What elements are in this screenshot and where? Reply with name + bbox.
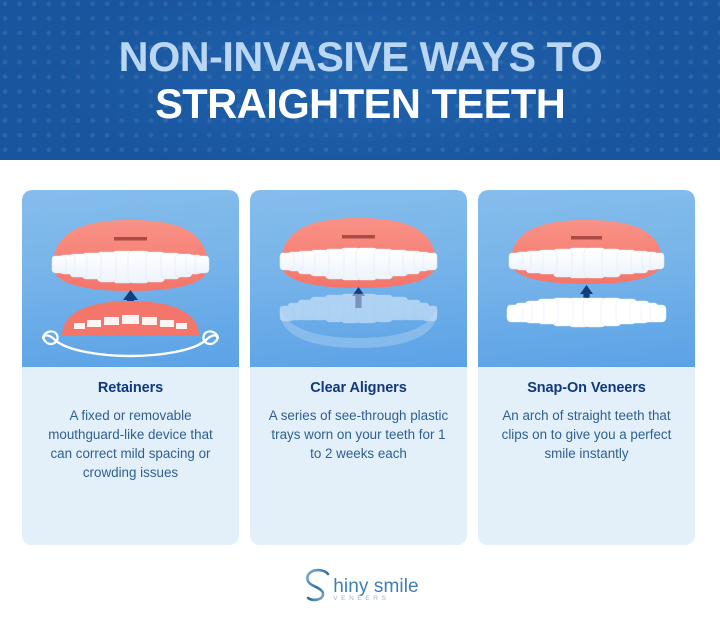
brand-name: hiny smile xyxy=(333,577,418,596)
illustration-snap-on-veneers xyxy=(478,190,695,367)
brand-logo[interactable]: hiny smile VENEERS xyxy=(301,566,418,606)
card-clear-aligners[interactable]: Clear Aligners A series of see-through p… xyxy=(250,190,467,545)
aligner-tray xyxy=(280,294,437,348)
card-description: An arch of straight teeth that clips on … xyxy=(488,406,685,463)
card-snap-on-veneers[interactable]: Snap-On Veneers An arch of straight teet… xyxy=(478,190,695,545)
brand-subtitle: VENEERS xyxy=(333,596,389,603)
card-title: Snap-On Veneers xyxy=(488,381,685,397)
title-line-1: NON-INVASIVE WAYS TO xyxy=(118,36,602,78)
header-banner: NON-INVASIVE WAYS TO STRAIGHTEN TEETH xyxy=(0,0,720,160)
card-title: Retainers xyxy=(32,381,229,397)
page-title: NON-INVASIVE WAYS TO STRAIGHTEN TEETH xyxy=(0,0,720,160)
card-title: Clear Aligners xyxy=(260,381,457,397)
card-body-clear-aligners: Clear Aligners A series of see-through p… xyxy=(250,367,467,545)
retainer-appliance xyxy=(43,301,218,356)
card-grid: Retainers A fixed or removable mouthguar… xyxy=(22,190,696,545)
footer: hiny smile VENEERS xyxy=(0,545,720,627)
card-body-retainers: Retainers A fixed or removable mouthguar… xyxy=(22,367,239,545)
card-description: A series of see-through plastic trays wo… xyxy=(260,406,457,463)
stylized-s-icon xyxy=(301,566,335,604)
card-retainers[interactable]: Retainers A fixed or removable mouthguar… xyxy=(22,190,239,545)
card-description: A fixed or removable mouthguard-like dev… xyxy=(32,406,229,482)
title-line-2: STRAIGHTEN TEETH xyxy=(155,83,565,125)
illustration-retainers xyxy=(22,190,239,367)
veneer-arch xyxy=(507,298,666,327)
card-body-snap-on-veneers: Snap-On Veneers An arch of straight teet… xyxy=(478,367,695,545)
illustration-clear-aligners xyxy=(250,190,467,367)
